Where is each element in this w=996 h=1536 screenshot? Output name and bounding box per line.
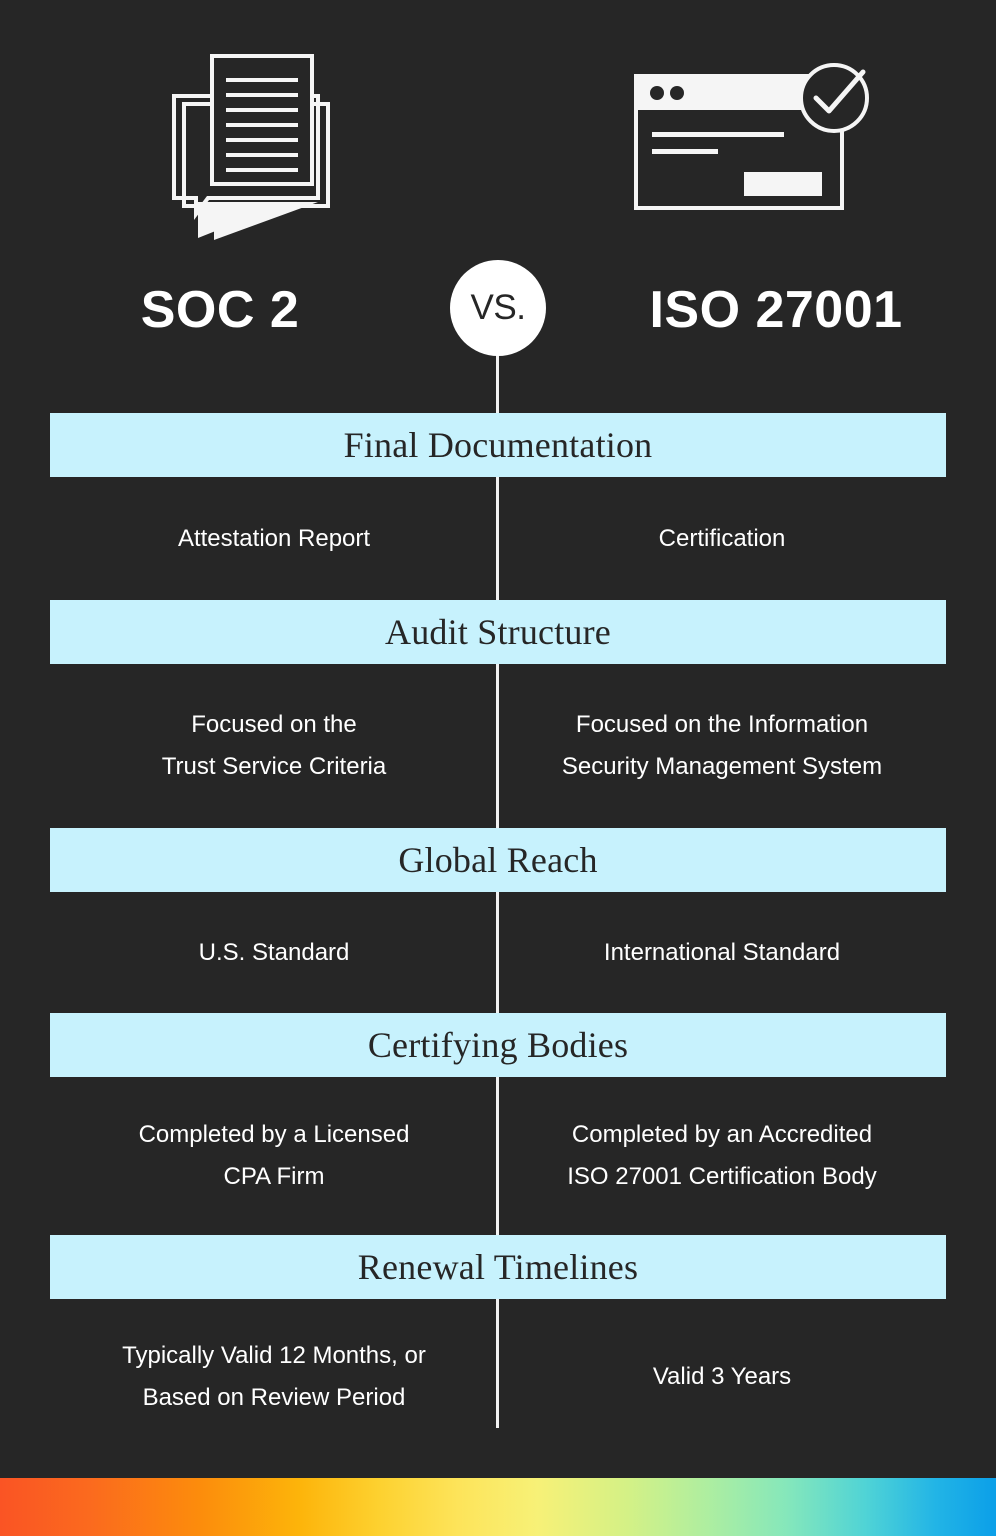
table-row: Typically Valid 12 Months, or Based on R… <box>50 1299 946 1455</box>
cell-right: Completed by an Accredited ISO 27001 Cer… <box>498 1077 946 1235</box>
category-label: Final Documentation <box>344 427 653 463</box>
cell-left: Attestation Report <box>50 477 498 600</box>
stacked-documents-icon <box>168 52 348 242</box>
page-title-right: ISO 27001 <box>556 260 996 360</box>
rainbow-gradient-bar <box>0 1478 996 1536</box>
category-label: Renewal Timelines <box>358 1249 638 1285</box>
cell-left: U.S. Standard <box>50 892 498 1013</box>
category-label: Global Reach <box>398 842 597 878</box>
cell-right: Focused on the Information Security Mana… <box>498 664 946 828</box>
category-band: Certifying Bodies <box>50 1013 946 1077</box>
cell-line: Typically Valid 12 Months, or <box>122 1335 426 1377</box>
cell-line: Certification <box>659 518 786 560</box>
cell-right: Valid 3 Years <box>498 1299 946 1455</box>
table-row: Attestation Report Certification <box>50 477 946 600</box>
category-label: Certifying Bodies <box>368 1027 628 1063</box>
cell-line: CPA Firm <box>224 1156 325 1198</box>
versus-badge: VS. <box>450 260 546 356</box>
cell-line: Completed by a Licensed <box>139 1114 410 1156</box>
cell-left: Typically Valid 12 Months, or Based on R… <box>50 1299 498 1455</box>
table-row: U.S. Standard International Standard <box>50 892 946 1013</box>
cell-line: Focused on the Information <box>576 704 868 746</box>
page-title-left: SOC 2 <box>0 260 440 360</box>
cell-left: Completed by a Licensed CPA Firm <box>50 1077 498 1235</box>
cell-line: U.S. Standard <box>199 932 350 974</box>
cell-line: ISO 27001 Certification Body <box>567 1156 877 1198</box>
cell-left: Focused on the Trust Service Criteria <box>50 664 498 828</box>
table-row: Completed by a Licensed CPA Firm Complet… <box>50 1077 946 1235</box>
browser-window-check-icon <box>632 58 882 218</box>
cell-line: Attestation Report <box>178 518 370 560</box>
category-band: Final Documentation <box>50 413 946 477</box>
table-row: Focused on the Trust Service Criteria Fo… <box>50 664 946 828</box>
category-band: Global Reach <box>50 828 946 892</box>
cell-line: Valid 3 Years <box>653 1356 791 1398</box>
cell-line: Based on Review Period <box>143 1377 406 1419</box>
icon-row <box>0 0 996 250</box>
category-band: Renewal Timelines <box>50 1235 946 1299</box>
cell-right: International Standard <box>498 892 946 1013</box>
cell-line: Focused on the <box>191 704 356 746</box>
cell-line: Completed by an Accredited <box>572 1114 872 1156</box>
cell-line: Security Management System <box>562 746 882 788</box>
versus-label: VS. <box>471 288 526 328</box>
cell-right: Certification <box>498 477 946 600</box>
cell-line: Trust Service Criteria <box>162 746 386 788</box>
category-band: Audit Structure <box>50 600 946 664</box>
category-label: Audit Structure <box>385 614 611 650</box>
comparison-table: Final Documentation Attestation Report C… <box>50 413 946 1455</box>
cell-line: International Standard <box>604 932 840 974</box>
